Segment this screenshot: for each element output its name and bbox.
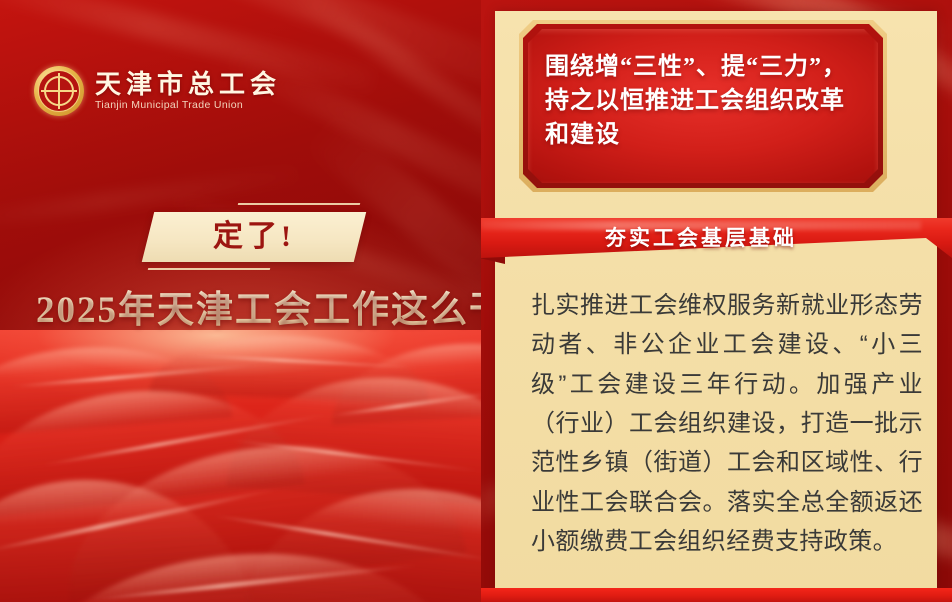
- red-silk-dune-field: [0, 330, 481, 602]
- silk-streak: [272, 0, 481, 172]
- logo-chinese-name: 天津市总工会: [95, 72, 281, 98]
- plaque-title-text: 围绕增“三性”、提“三力”，持之以恒推进工会组织改革和建设: [545, 50, 865, 152]
- card-bottom-red-bar: [481, 588, 952, 602]
- emblem-vertical-bar: [58, 73, 61, 109]
- body-paragraph: 扎实推进工会维权服务新就业形态劳动者、非公企业工会建设、“小三级”工会建设三年行…: [531, 286, 923, 562]
- section-ribbon: 夯实工会基层基础: [481, 218, 952, 264]
- logo-text-block: 天津市总工会 Tianjin Municipal Trade Union: [95, 72, 281, 111]
- badge-accent-rule-top: [238, 203, 360, 205]
- ding-le-badge-label: 定了!: [148, 212, 360, 262]
- left-hero-panel: 天津市总工会 Tianjin Municipal Trade Union 定了!…: [0, 0, 481, 602]
- title-plaque: 围绕增“三性”、提“三力”，持之以恒推进工会组织改革和建设: [519, 20, 887, 192]
- badge-accent-rule-bottom: [148, 268, 270, 270]
- section-ribbon-label: 夯实工会基层基础: [481, 218, 921, 258]
- logo-english-name: Tianjin Municipal Trade Union: [95, 100, 281, 111]
- ding-le-badge: 定了!: [142, 212, 366, 262]
- union-emblem-icon: [34, 66, 84, 116]
- organization-logo: 天津市总工会 Tianjin Municipal Trade Union: [34, 66, 281, 116]
- poster-root: 天津市总工会 Tianjin Municipal Trade Union 定了!…: [0, 0, 952, 602]
- main-headline: 2025年天津工会工作这么干: [36, 279, 481, 333]
